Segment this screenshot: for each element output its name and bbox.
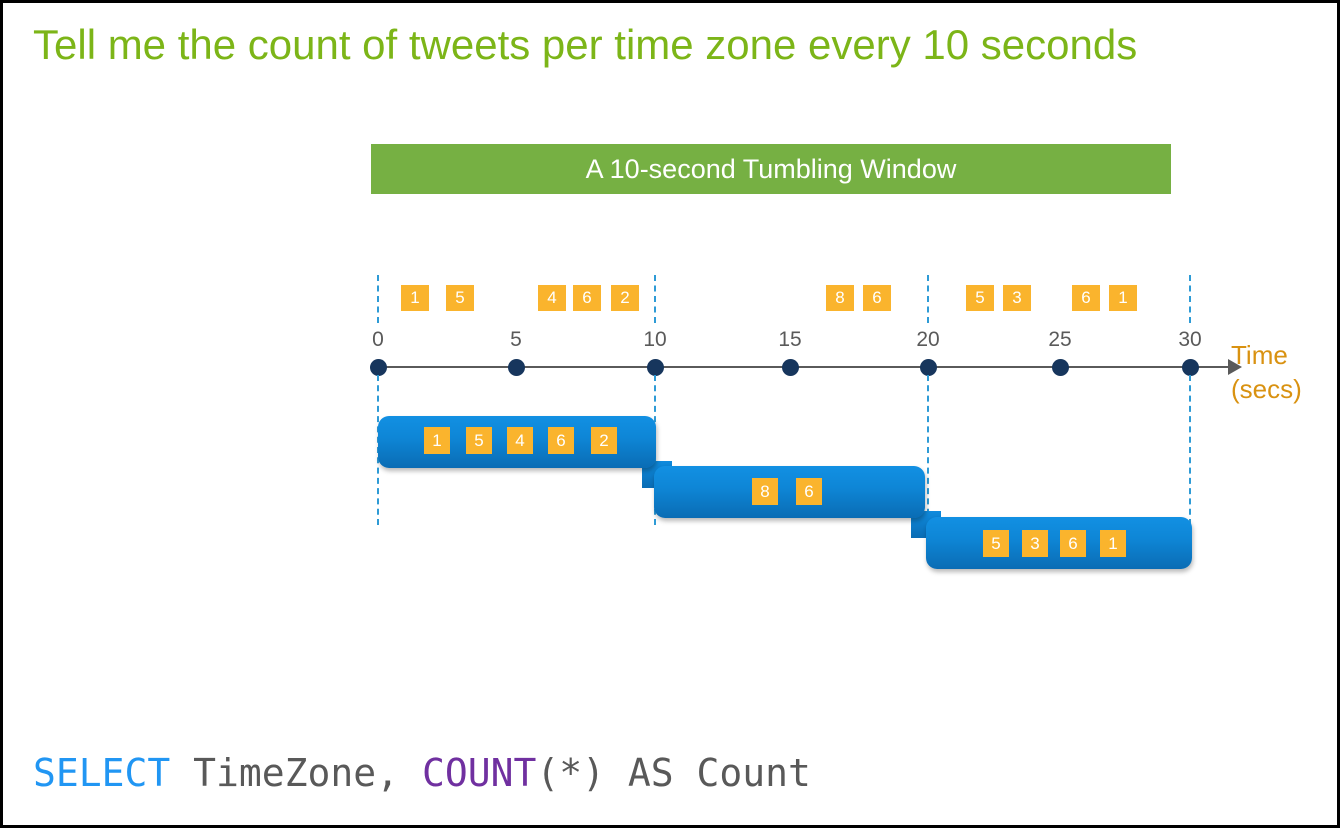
event-chip: 5 [446, 285, 474, 311]
window-boundary-line [927, 375, 929, 525]
timeline-tick-label: 30 [1160, 328, 1220, 352]
timeline-tick-label: 25 [1030, 328, 1090, 352]
event-chip: 4 [538, 285, 566, 311]
sql-token: (*) AS Count [536, 751, 811, 795]
window-boundary-line [654, 275, 656, 323]
sql-token: TimeZone, [170, 751, 422, 795]
window-event-chip: 5 [466, 427, 492, 454]
window-event-chip: 1 [424, 427, 450, 454]
window-event-chip: 8 [752, 478, 778, 505]
window-event-chip: 1 [1100, 530, 1126, 557]
window-event-chip: 6 [796, 478, 822, 505]
timeline-tick-dot [782, 359, 799, 376]
page-title: Tell me the count of tweets per time zon… [33, 17, 1313, 73]
window-event-chip: 3 [1022, 530, 1048, 557]
window-boundary-line [1189, 275, 1191, 323]
timeline-axis [378, 366, 1230, 368]
window-bar-2 [654, 466, 925, 518]
axis-label-time: Time (secs) [1231, 338, 1340, 406]
timeline-tick-label: 0 [348, 328, 408, 352]
timeline-tick-label: 15 [760, 328, 820, 352]
event-chip: 3 [1003, 285, 1031, 311]
timeline-tick-dot [647, 359, 664, 376]
window-boundary-line [1189, 375, 1191, 525]
window-event-chip: 6 [1060, 530, 1086, 557]
axis-label-time-line1: Time [1231, 338, 1340, 372]
window-event-chip: 6 [548, 427, 574, 454]
sql-token: COUNT [422, 751, 536, 795]
window-event-chip: 2 [591, 427, 617, 454]
event-chip: 1 [401, 285, 429, 311]
event-chip: 8 [826, 285, 854, 311]
event-chip: 6 [573, 285, 601, 311]
axis-label-time-line2: (secs) [1231, 372, 1340, 406]
slide-canvas: Tell me the count of tweets per time zon… [0, 0, 1340, 828]
timeline-tick-dot [920, 359, 937, 376]
timeline-tick-label: 10 [625, 328, 685, 352]
timeline-tick-dot [508, 359, 525, 376]
tumbling-window-banner: A 10-second Tumbling Window [371, 144, 1171, 194]
window-bar-3 [926, 517, 1192, 569]
timeline-tick-dot [370, 359, 387, 376]
timeline-tick-label: 5 [486, 328, 546, 352]
timeline-tick-dot [1182, 359, 1199, 376]
window-event-chip: 5 [983, 530, 1009, 557]
timeline-tick-dot [1052, 359, 1069, 376]
event-chip: 1 [1109, 285, 1137, 311]
event-chip: 6 [1072, 285, 1100, 311]
window-boundary-line [927, 275, 929, 323]
sql-token: SELECT [33, 751, 170, 795]
timeline-tick-label: 20 [898, 328, 958, 352]
sql-query-block: SELECT TimeZone, COUNT(*) AS Count FROM … [33, 633, 1313, 828]
window-boundary-line [377, 275, 379, 323]
sql-query-line-1: SELECT TimeZone, COUNT(*) AS Count [33, 745, 1313, 801]
window-event-chip: 4 [507, 427, 533, 454]
event-chip: 5 [966, 285, 994, 311]
event-chip: 2 [611, 285, 639, 311]
banner-label: A 10-second Tumbling Window [371, 144, 1171, 194]
event-chip: 6 [863, 285, 891, 311]
